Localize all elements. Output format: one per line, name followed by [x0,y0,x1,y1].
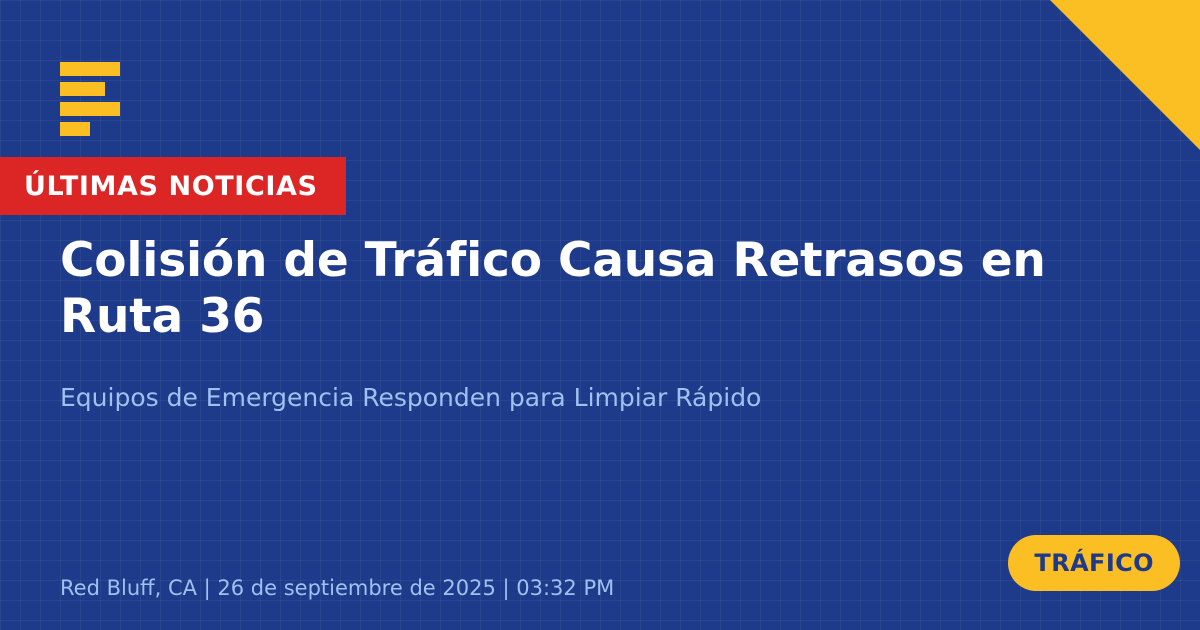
breaking-news-label: ÚLTIMAS NOTICIAS [24,173,318,200]
subheadline: Equipos de Emergencia Responden para Lim… [60,382,1060,415]
logo-bar-4 [60,122,90,136]
logo-bar-2 [60,82,105,96]
headline: Colisión de Tráfico Causa Retrasos en Ru… [60,233,1135,345]
logo-bar-1 [60,62,120,76]
logo-bar-3 [60,102,120,116]
breaking-news-badge: ÚLTIMAS NOTICIAS [0,157,346,215]
meta-line: Red Bluff, CA | 26 de septiembre de 2025… [60,576,614,601]
corner-accent-triangle [1050,0,1200,150]
category-badge-label: TRÁFICO [1034,551,1154,575]
category-badge[interactable]: TRÁFICO [1008,535,1180,591]
brand-logo[interactable] [60,62,120,136]
news-card: ÚLTIMAS NOTICIAS Colisión de Tráfico Cau… [0,0,1200,630]
